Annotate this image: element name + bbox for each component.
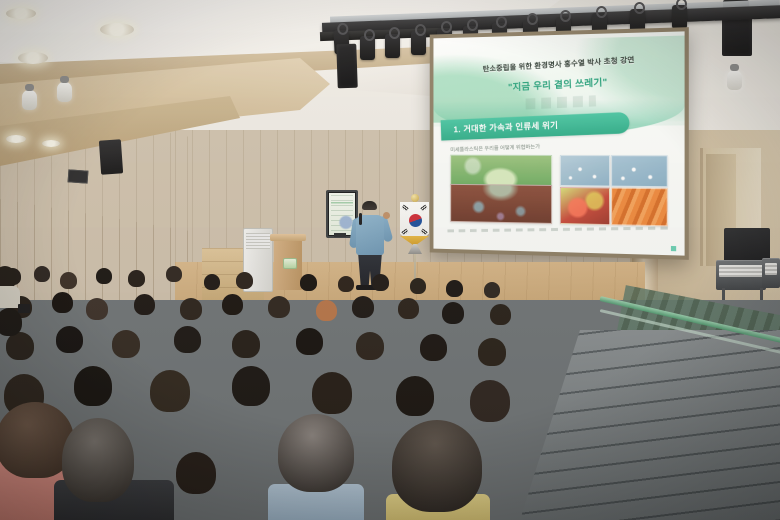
audience-member xyxy=(174,326,201,353)
presenter-hair xyxy=(362,201,377,210)
slide-photo-carrots xyxy=(611,188,668,226)
audience-member xyxy=(272,270,288,286)
portable-unit-1 xyxy=(716,260,766,290)
audience-member xyxy=(128,270,145,287)
downlight-icon xyxy=(6,8,36,19)
audience-torso xyxy=(0,286,20,308)
podium-top xyxy=(270,234,306,241)
taeguk-symbol-icon xyxy=(409,214,422,227)
audience-member xyxy=(356,332,384,360)
audience-member xyxy=(52,292,73,313)
seat[interactable] xyxy=(636,358,672,408)
seat[interactable] xyxy=(758,397,780,461)
slide-photo-microscopy-1 xyxy=(560,155,610,186)
hanging-speaker xyxy=(336,44,358,89)
wall-speaker xyxy=(722,16,752,56)
seat[interactable] xyxy=(666,404,712,468)
audience-member xyxy=(86,298,108,320)
audience-member xyxy=(150,370,190,412)
downlight-icon xyxy=(6,135,26,143)
ceiling-speaker xyxy=(99,139,123,174)
audience-member xyxy=(180,298,202,320)
audience-member xyxy=(296,328,323,355)
audience-member xyxy=(372,274,389,291)
stage-light-icon xyxy=(672,5,687,29)
wall-light-fixture-icon xyxy=(727,70,742,90)
downlight-icon xyxy=(100,23,134,36)
slide-photo-plant-roots xyxy=(450,184,552,224)
downlight-icon xyxy=(42,140,60,147)
audience-member xyxy=(166,266,182,282)
stage-light-icon xyxy=(411,31,426,55)
downlight-icon xyxy=(18,52,48,64)
audience-member-ponytail xyxy=(62,418,134,502)
podium-emblem xyxy=(283,258,297,269)
slide-photo-microscopy-2 xyxy=(611,156,668,187)
audience-member xyxy=(442,302,464,324)
audience-member xyxy=(232,330,260,358)
presenter-hand xyxy=(383,212,390,219)
slide-section-header-text: 1. 거대한 가속과 인류세 위기 xyxy=(453,120,558,136)
wall-light-fixture-icon xyxy=(57,82,72,102)
audience-member xyxy=(268,296,290,318)
audience-member xyxy=(490,304,511,325)
audience-member xyxy=(134,294,155,315)
seat[interactable] xyxy=(712,400,758,464)
audience-member xyxy=(470,380,510,422)
audience-member xyxy=(74,366,112,406)
audience-member xyxy=(478,338,506,366)
slide-page-marker xyxy=(671,246,676,251)
audience-member xyxy=(232,366,270,406)
audience-member xyxy=(6,332,34,360)
audience-member xyxy=(60,272,77,289)
audience-member xyxy=(420,334,447,361)
stage-light-icon xyxy=(385,34,400,58)
slide-photo-plant-top xyxy=(450,155,552,187)
phone-held-up xyxy=(18,304,30,313)
seat[interactable] xyxy=(620,408,666,472)
audience-member xyxy=(410,278,426,294)
seat[interactable] xyxy=(660,464,720,520)
seat[interactable] xyxy=(720,459,780,520)
audience-member xyxy=(236,272,253,289)
flag-finial-icon xyxy=(411,194,419,202)
audience-member-short-hair xyxy=(278,414,354,492)
stage-light-icon xyxy=(360,36,375,60)
wall-light-fixture-icon xyxy=(22,90,37,110)
audience-member xyxy=(446,280,463,297)
seat[interactable] xyxy=(744,350,780,400)
audience-member xyxy=(398,298,419,319)
audience-member xyxy=(312,372,352,414)
audience-member xyxy=(222,294,243,315)
wall-mounted-device xyxy=(68,169,89,183)
auditorium-photo: 탄소중립을 위한 환경명사 홍수열 박사 초청 강연 "지금 우리 곁의 쓰레기… xyxy=(0,0,780,520)
audience-member xyxy=(338,276,354,292)
audience-member xyxy=(300,274,317,291)
slide-bullet-text: 미세플라스틱은 우리를 어떻게 위협하는가 xyxy=(450,142,540,153)
audience-member xyxy=(112,330,140,358)
audience-member-long-hair xyxy=(392,420,482,512)
audience-member xyxy=(96,268,112,284)
projection-screen: 탄소중립을 위한 환경명사 홍수열 박사 초청 강연 "지금 우리 곁의 쓰레기… xyxy=(433,31,684,255)
audience-member xyxy=(484,282,500,298)
audience-member xyxy=(56,326,83,353)
microphone-icon xyxy=(359,213,362,225)
monitor-base xyxy=(334,233,346,237)
seat[interactable] xyxy=(672,355,708,405)
audience-member xyxy=(352,296,374,318)
slide-footer-text xyxy=(448,227,669,233)
portable-unit-2 xyxy=(762,258,780,288)
audience-member xyxy=(204,274,220,290)
seat[interactable] xyxy=(600,470,660,520)
audience-member xyxy=(176,452,216,494)
audience-member xyxy=(316,300,337,321)
audience-member xyxy=(34,266,50,282)
audience-member xyxy=(396,376,434,416)
slide-photo-apples xyxy=(560,187,610,225)
seat[interactable] xyxy=(708,352,744,402)
